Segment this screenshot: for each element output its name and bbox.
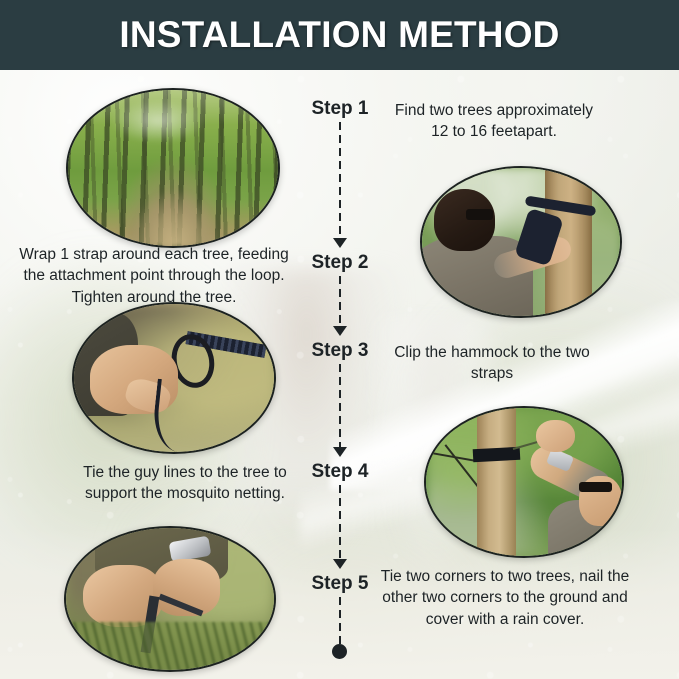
step-photo-1 — [66, 88, 280, 248]
photo4-sunglasses — [579, 482, 612, 492]
step-description-2: Wrap 1 strap around each tree, feeding t… — [12, 244, 296, 308]
step-description-3: Clip the hammock to the two straps — [386, 342, 598, 385]
step-photo-3 — [72, 302, 276, 454]
connector-line-4-5 — [339, 485, 341, 560]
photo4-hand — [536, 420, 575, 453]
carabiner-clip-image — [74, 304, 274, 452]
header-bar: INSTALLATION METHOD — [0, 0, 679, 70]
photo2-person-head — [434, 189, 495, 251]
connector-line-2-3 — [339, 276, 341, 327]
connector-line-end — [339, 597, 341, 647]
connector-line-3-4 — [339, 364, 341, 448]
ground-peg-image — [66, 528, 274, 670]
step-photo-2 — [420, 166, 622, 318]
connector-arrow-2-3 — [333, 326, 347, 336]
photo5-grass — [66, 622, 274, 670]
connector-arrow-1-2 — [333, 238, 347, 248]
infographic-page: INSTALLATION METHOD — [0, 0, 679, 679]
step-description-5: Tie two corners to two trees, nail the o… — [380, 566, 630, 630]
photo2-sunglasses — [466, 209, 494, 219]
step-description-4: Tie the guy lines to the tree to support… — [68, 462, 302, 505]
forest-trail-path — [131, 190, 219, 246]
step-description-1: Find two trees approximately 12 to 16 fe… — [386, 100, 602, 143]
connector-arrow-4-5 — [333, 559, 347, 569]
forest-light-patch — [110, 99, 207, 143]
step-label-1: Step 1 — [280, 98, 400, 120]
connector-arrow-3-4 — [333, 447, 347, 457]
page-title: INSTALLATION METHOD — [119, 14, 559, 56]
photo4-tree-trunk — [477, 406, 516, 558]
guy-lines-image — [426, 408, 622, 556]
step-label-2: Step 2 — [280, 252, 400, 274]
step-photo-4 — [424, 406, 624, 558]
forest-trail-image — [68, 90, 278, 246]
connector-end-dot — [332, 644, 347, 659]
strap-wrap-image — [422, 168, 620, 316]
connector-line-1-2 — [339, 122, 341, 239]
step-photo-5 — [64, 526, 276, 672]
step-label-3: Step 3 — [280, 340, 400, 362]
